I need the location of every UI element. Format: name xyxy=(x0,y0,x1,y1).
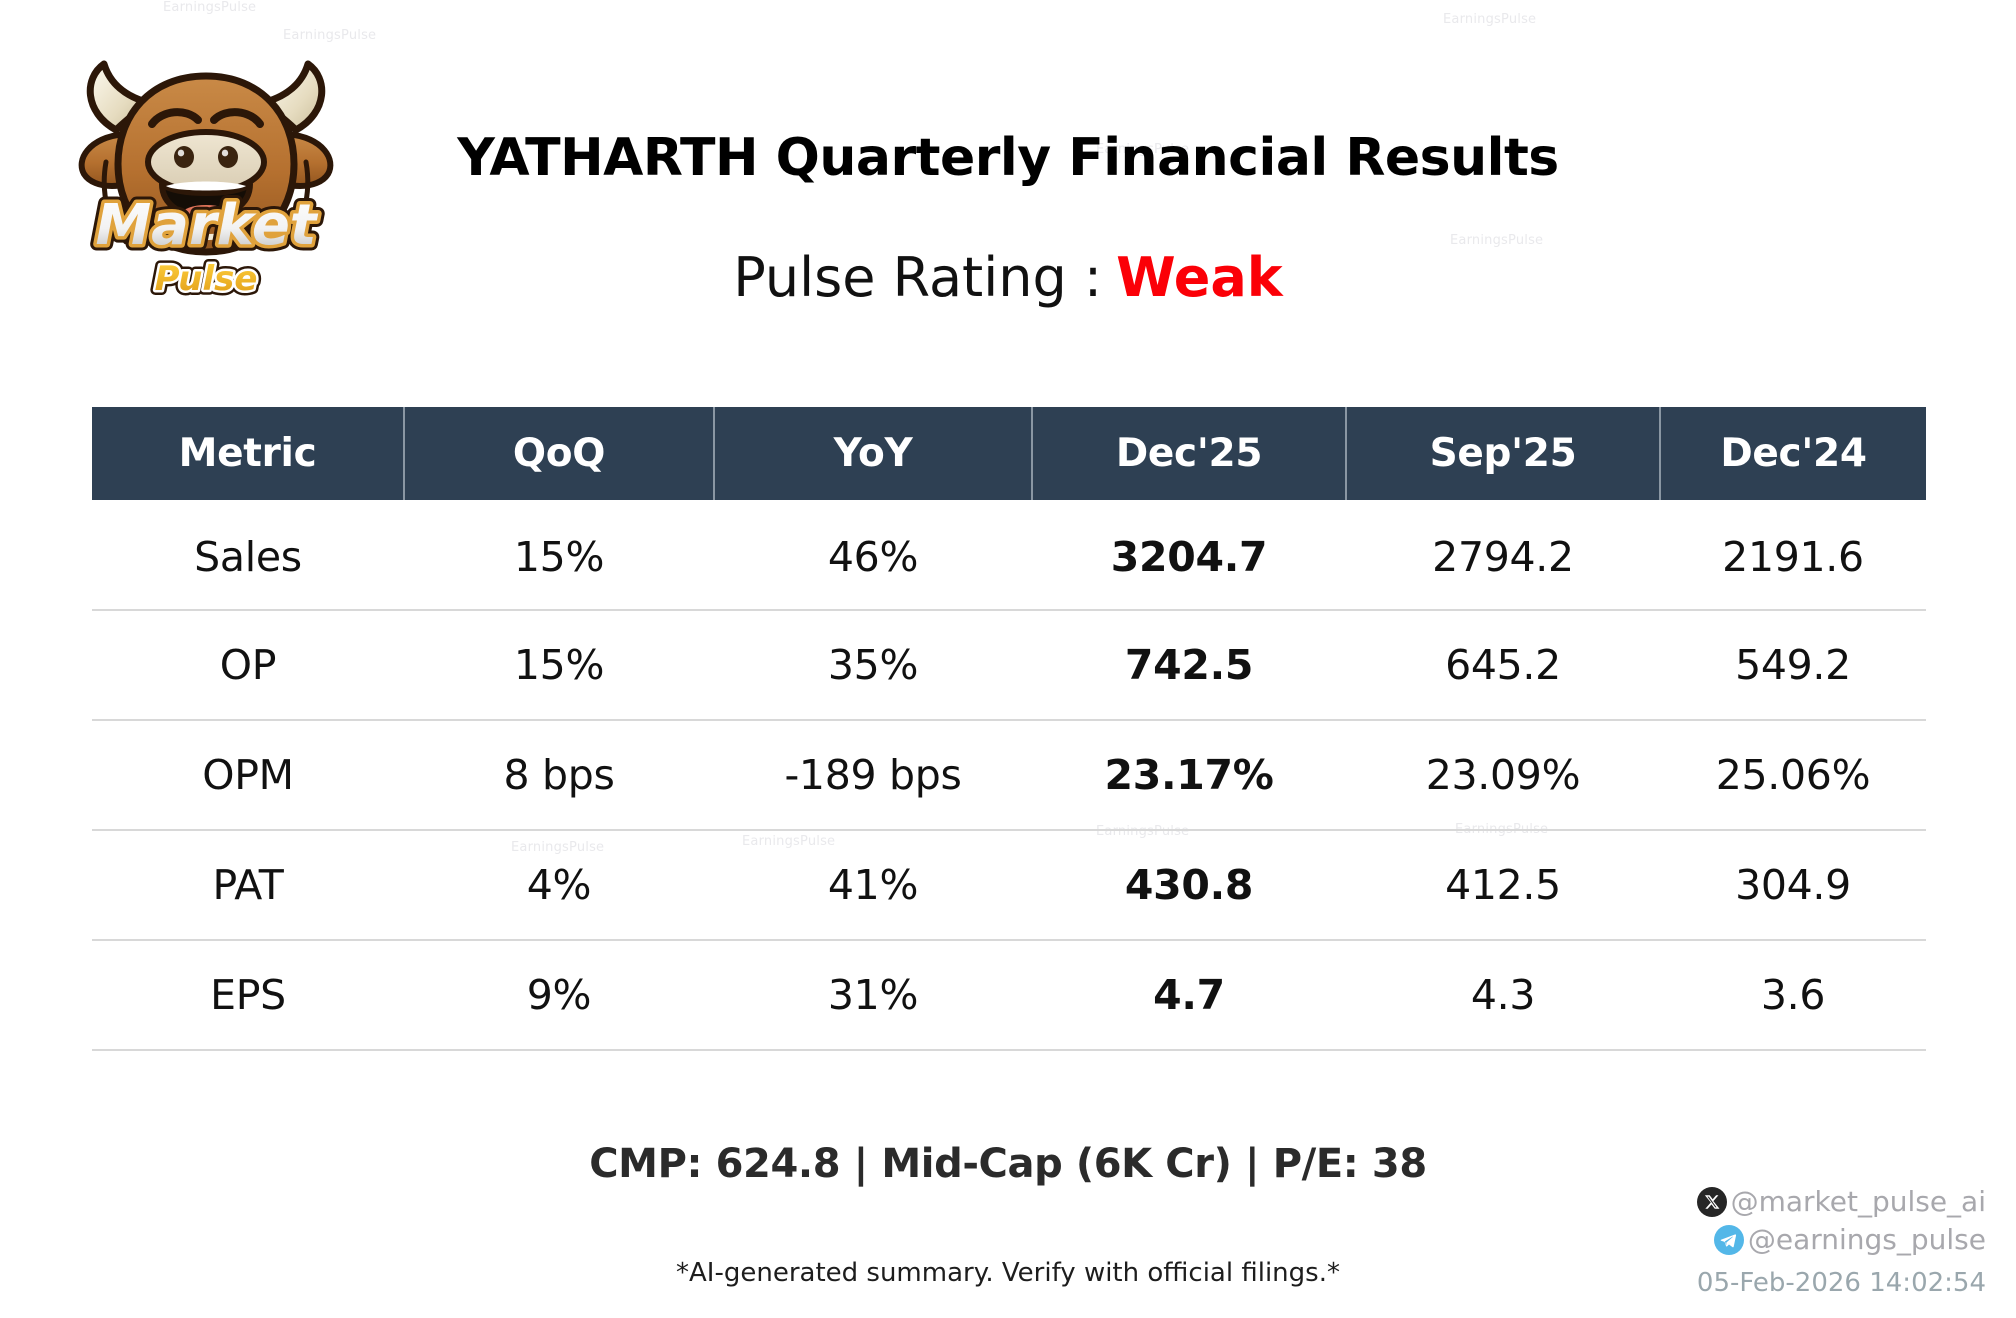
cell-metric: PAT xyxy=(92,830,404,940)
cell-qoq: 15% xyxy=(404,610,714,720)
quarterly-results-table: Metric QoQ YoY Dec'25 Sep'25 Dec'24 Sale… xyxy=(92,407,1926,1051)
telegram-icon xyxy=(1714,1225,1744,1255)
cell-metric: Sales xyxy=(92,500,404,610)
social-handle-x: @market_pulse_ai xyxy=(1731,1188,1986,1216)
cell-dec24: 549.2 xyxy=(1660,610,1926,720)
column-header-yoy: YoY xyxy=(714,407,1032,500)
social-handle-telegram: @earnings_pulse xyxy=(1748,1226,1986,1254)
table-row: OP15%35%742.5645.2549.2 xyxy=(92,610,1926,720)
table-row: Sales15%46%3204.72794.22191.6 xyxy=(92,500,1926,610)
generated-timestamp: 05-Feb-2026 14:02:54 xyxy=(1697,1268,1986,1298)
cell-sep25: 2794.2 xyxy=(1346,500,1660,610)
social-handles: @market_pulse_ai @earnings_pulse xyxy=(1666,1183,1986,1259)
cell-yoy: 35% xyxy=(714,610,1032,720)
cell-metric: EPS xyxy=(92,940,404,1050)
cell-dec25: 742.5 xyxy=(1032,610,1346,720)
cell-yoy: -189 bps xyxy=(714,720,1032,830)
social-row-telegram[interactable]: @earnings_pulse xyxy=(1666,1221,1986,1259)
results-card: EarningsPulseEarningsPulseEarningsPulseE… xyxy=(0,0,2016,1318)
table-body: Sales15%46%3204.72794.22191.6OP15%35%742… xyxy=(92,500,1926,1050)
column-header-dec24: Dec'24 xyxy=(1660,407,1926,500)
x-twitter-icon xyxy=(1697,1187,1727,1217)
column-header-dec25: Dec'25 xyxy=(1032,407,1346,500)
valuation-summary: CMP: 624.8 | Mid-Cap (6K Cr) | P/E: 38 xyxy=(0,1141,2016,1187)
column-header-qoq: QoQ xyxy=(404,407,714,500)
cell-dec24: 2191.6 xyxy=(1660,500,1926,610)
cell-qoq: 4% xyxy=(404,830,714,940)
cell-sep25: 23.09% xyxy=(1346,720,1660,830)
page-title: YATHARTH Quarterly Financial Results xyxy=(0,128,2016,188)
table-row: EPS9%31%4.74.33.6 xyxy=(92,940,1926,1050)
pulse-rating-label: Pulse Rating : xyxy=(733,246,1102,309)
cell-sep25: 645.2 xyxy=(1346,610,1660,720)
cell-metric: OP xyxy=(92,610,404,720)
social-row-x[interactable]: @market_pulse_ai xyxy=(1666,1183,1986,1221)
cell-dec25: 3204.7 xyxy=(1032,500,1346,610)
cell-yoy: 31% xyxy=(714,940,1032,1050)
watermark: EarningsPulse xyxy=(163,0,256,15)
column-header-metric: Metric xyxy=(92,407,404,500)
cell-dec25: 430.8 xyxy=(1032,830,1346,940)
cell-sep25: 4.3 xyxy=(1346,940,1660,1050)
pulse-rating-line: Pulse Rating :Weak xyxy=(0,246,2016,309)
cell-dec25: 23.17% xyxy=(1032,720,1346,830)
cell-yoy: 41% xyxy=(714,830,1032,940)
cell-yoy: 46% xyxy=(714,500,1032,610)
cell-dec24: 25.06% xyxy=(1660,720,1926,830)
column-header-sep25: Sep'25 xyxy=(1346,407,1660,500)
cell-metric: OPM xyxy=(92,720,404,830)
table-row: PAT4%41%430.8412.5304.9 xyxy=(92,830,1926,940)
pulse-rating-value: Weak xyxy=(1116,246,1283,309)
table-row: OPM8 bps-189 bps23.17%23.09%25.06% xyxy=(92,720,1926,830)
watermark: EarningsPulse xyxy=(1443,12,1536,27)
table-header-row: Metric QoQ YoY Dec'25 Sep'25 Dec'24 xyxy=(92,407,1926,500)
table-header: Metric QoQ YoY Dec'25 Sep'25 Dec'24 xyxy=(92,407,1926,500)
cell-qoq: 9% xyxy=(404,940,714,1050)
cell-qoq: 8 bps xyxy=(404,720,714,830)
cell-dec25: 4.7 xyxy=(1032,940,1346,1050)
cell-dec24: 304.9 xyxy=(1660,830,1926,940)
cell-qoq: 15% xyxy=(404,500,714,610)
cell-dec24: 3.6 xyxy=(1660,940,1926,1050)
cell-sep25: 412.5 xyxy=(1346,830,1660,940)
